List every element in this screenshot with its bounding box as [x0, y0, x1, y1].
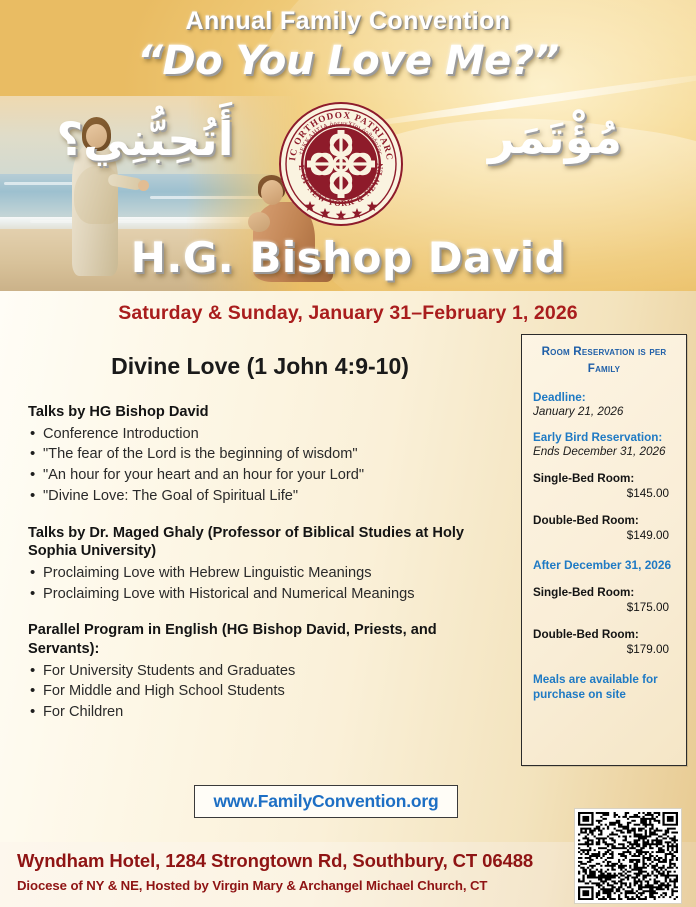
hero-speaker-name: H.G. Bishop David	[0, 233, 696, 282]
hero-arabic-conference: مُؤْتَمَر	[430, 110, 680, 164]
list-item: "The fear of the Lord is the beginning o…	[28, 444, 506, 465]
after-double-room-label: Double-Bed Room:	[533, 628, 675, 641]
list-item: Proclaiming Love with Hebrew Linguistic …	[28, 563, 506, 584]
early-single-room-price: $145.00	[533, 487, 675, 500]
hero-banner: Annual Family Convention “Do You Love Me…	[0, 0, 696, 291]
section-item-list: Proclaiming Love with Hebrew Linguistic …	[28, 563, 506, 604]
list-item: Proclaiming Love with Historical and Num…	[28, 584, 506, 605]
diocese-seal-logo: COPTIC ORTHODOX PATRIARCHATE DIOCESE OF …	[277, 100, 405, 228]
hero-kicker: Annual Family Convention	[0, 7, 696, 36]
section-spacer	[28, 604, 506, 621]
early-double-room-price: $149.00	[533, 529, 675, 542]
hero-theme-title: “Do You Love Me?”	[0, 38, 696, 84]
hero-arabic-theme: أَتُحِبُّنِي؟	[20, 112, 270, 166]
qr-code[interactable]	[574, 808, 682, 904]
deadline-label: Deadline:	[533, 391, 675, 404]
qr-code-canvas[interactable]	[578, 812, 678, 900]
section-item-list: For University Students and Graduates Fo…	[28, 661, 506, 723]
event-date: Saturday & Sunday, January 31–February 1…	[0, 302, 696, 325]
reservation-title: Room Reservation is per Family	[533, 344, 675, 378]
list-item: For Middle and High School Students	[28, 681, 506, 702]
list-item: "An hour for your heart and an hour for …	[28, 465, 506, 486]
early-bird-value: Ends December 31, 2026	[533, 445, 675, 458]
deadline-value: January 21, 2026	[533, 405, 675, 418]
website-link[interactable]: www.FamilyConvention.org	[214, 791, 439, 812]
list-item: Conference Introduction	[28, 424, 506, 445]
main-content-area: Saturday & Sunday, January 31–February 1…	[0, 291, 696, 842]
website-box[interactable]: www.FamilyConvention.org	[194, 785, 458, 818]
section-item-list: Conference Introduction "The fear of the…	[28, 424, 506, 507]
list-item: For Children	[28, 702, 506, 723]
after-deadline-label: After December 31, 2026	[533, 558, 675, 572]
early-double-room-label: Double-Bed Room:	[533, 514, 675, 527]
after-single-room-price: $175.00	[533, 601, 675, 614]
convention-flyer: Annual Family Convention “Do You Love Me…	[0, 0, 696, 907]
after-double-room-price: $179.00	[533, 643, 675, 656]
list-item: "Divine Love: The Goal of Spiritual Life…	[28, 486, 506, 507]
program-section: Talks by Dr. Maged Ghaly (Professor of B…	[28, 524, 506, 605]
after-single-room-label: Single-Bed Room:	[533, 586, 675, 599]
early-single-room-label: Single-Bed Room:	[533, 472, 675, 485]
venue-address: Wyndham Hotel, 1284 Strongtown Rd, South…	[17, 850, 533, 872]
section-heading: Talks by Dr. Maged Ghaly (Professor of B…	[28, 524, 506, 561]
section-heading: Talks by HG Bishop David	[28, 403, 506, 422]
main-theme-title: Divine Love (1 John 4:9-10)	[0, 353, 520, 380]
early-bird-label: Early Bird Reservation:	[533, 431, 675, 444]
host-line: Diocese of NY & NE, Hosted by Virgin Mar…	[17, 878, 487, 893]
program-sections: Talks by HG Bishop David Conference Intr…	[28, 403, 506, 723]
hands-shape	[248, 212, 270, 232]
program-section: Parallel Program in English (HG Bishop D…	[28, 621, 506, 723]
list-item: For University Students and Graduates	[28, 661, 506, 682]
program-section: Talks by HG Bishop David Conference Intr…	[28, 403, 506, 507]
meals-note: Meals are available for purchase on site	[533, 672, 675, 704]
section-spacer	[28, 507, 506, 524]
room-reservation-box: Room Reservation is per Family Deadline:…	[521, 334, 687, 766]
section-heading: Parallel Program in English (HG Bishop D…	[28, 621, 506, 658]
hand-shape	[138, 180, 149, 191]
